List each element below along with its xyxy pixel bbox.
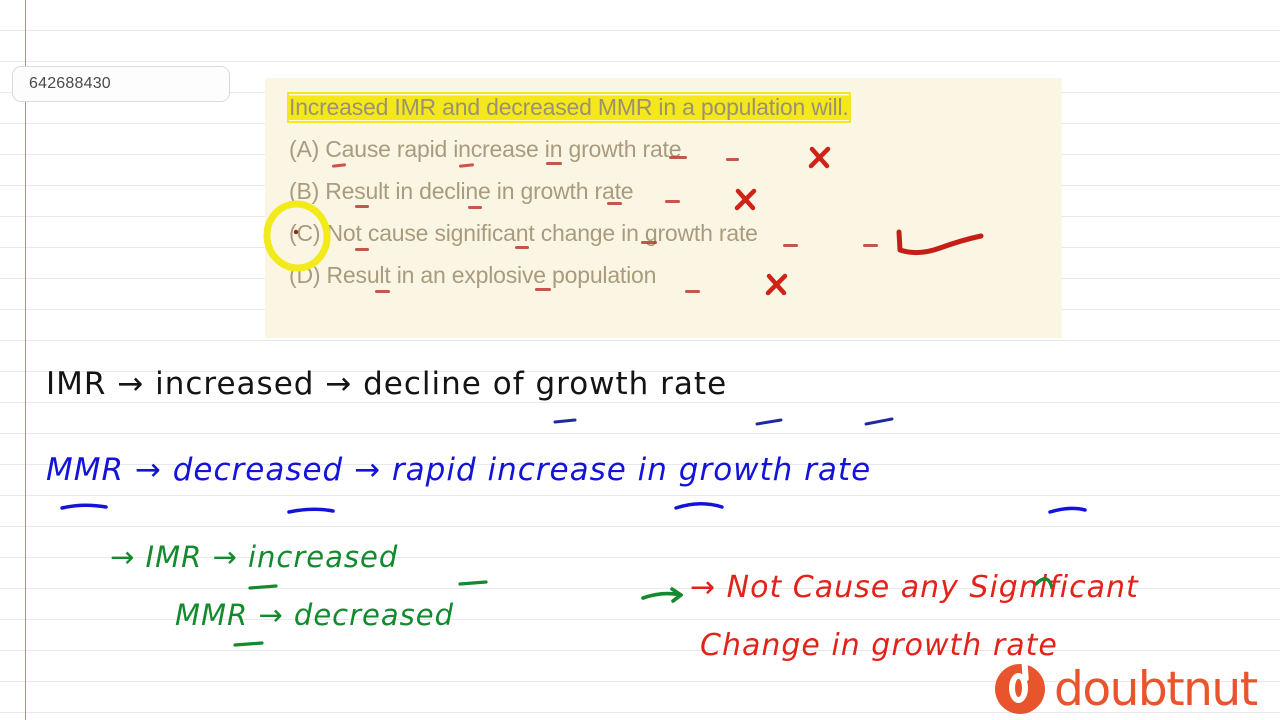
doubtnut-logo-icon	[995, 664, 1045, 714]
pencil-underline	[468, 206, 482, 209]
handwriting-line-green-1: → IMR → increased	[110, 540, 398, 574]
pencil-underline	[726, 158, 739, 161]
doubtnut-watermark: doubtnut	[995, 660, 1270, 718]
question-stem: Increased IMR and decreased MMR in a pop…	[289, 94, 849, 121]
doubtnut-brand-text: doubtnut	[1054, 666, 1257, 713]
pencil-underline	[665, 200, 680, 203]
pencil-underline	[546, 162, 562, 165]
pencil-underline	[863, 244, 878, 247]
pencil-underline	[641, 241, 657, 244]
pencil-underline	[332, 163, 346, 167]
question-id-label: 642688430	[29, 75, 111, 93]
pencil-underline	[669, 156, 687, 159]
question-card: Increased IMR and decreased MMR in a pop…	[265, 78, 1062, 338]
question-id-chip: 642688430	[12, 66, 230, 102]
paper-margin-line	[25, 0, 26, 720]
handwriting-line-red-1: → Not Cause any Significant	[690, 570, 1139, 605]
pencil-underline	[375, 290, 390, 293]
pencil-underline	[459, 163, 474, 168]
pencil-underline	[607, 202, 622, 205]
pencil-underline	[685, 290, 700, 293]
pencil-underline	[355, 205, 369, 208]
option-c[interactable]: (C) Not cause significant change in grow…	[289, 220, 758, 247]
pencil-underline	[783, 244, 798, 247]
option-b[interactable]: (B) Result in decline in growth rate	[289, 178, 633, 205]
option-a[interactable]: (A) Cause rapid increase in growth rate	[289, 136, 681, 163]
handwriting-line-red-2: Change in growth rate	[700, 628, 1058, 663]
pencil-underline	[355, 248, 369, 251]
pencil-underline	[515, 246, 529, 249]
handwriting-line-blue: MMR → decreased → rapid increase in grow…	[46, 452, 871, 488]
pencil-underline	[535, 288, 551, 291]
handwriting-line-black: IMR → increased → decline of growth rate	[46, 366, 727, 402]
option-d[interactable]: (D) Result in an explosive population	[289, 262, 656, 289]
handwriting-line-green-2: MMR → decreased	[175, 598, 454, 632]
